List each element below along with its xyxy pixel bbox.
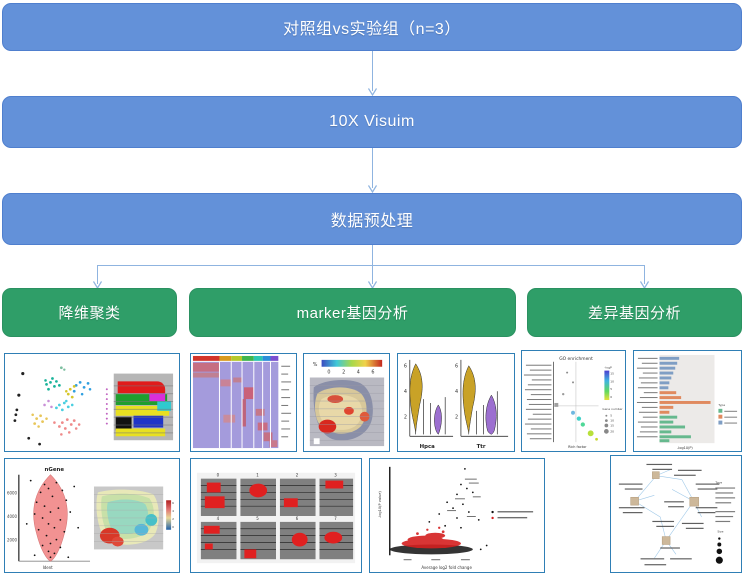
violin-xlabel-2: Ttr xyxy=(477,444,486,450)
svg-text:0: 0 xyxy=(327,370,330,376)
flowchart-canvas: 对照组vs实验组（n=3） 10X Visuim 数据预处理 降维聚类 mark… xyxy=(0,0,744,578)
flow-node-marker-label: marker基因分析 xyxy=(297,302,409,323)
connector-preprocessing-bus xyxy=(97,265,645,266)
figure-panel-marker-gene-heatmap[interactable] xyxy=(190,353,297,452)
figure-panel-spatial-expression-feature-plot[interactable]: % 02 46 xyxy=(303,353,390,452)
volcano-plot-graphic: Average log2 fold change -log10(P value) xyxy=(370,459,544,572)
flow-node-marker[interactable]: marker基因分析 xyxy=(189,288,516,337)
connector-platform-preprocessing xyxy=(372,148,373,188)
marker-gene-heatmap-graphic xyxy=(191,354,296,451)
connector-cohort-platform xyxy=(372,51,373,91)
svg-text:4: 4 xyxy=(455,389,458,395)
svg-text:6: 6 xyxy=(172,501,174,505)
violin-xlabel-1: Hpca xyxy=(420,444,436,450)
svg-text:5: 5 xyxy=(610,414,612,418)
figure-panel-ngene-violin-and-spatial-qc[interactable]: nGene 600040002000 Ident xyxy=(4,458,180,573)
cluster-spatial-grid-graphic: 0 1 2 3 4 5 6 7 xyxy=(191,459,361,572)
go-enrichment-bubble-plot-graphic: GO enrichment xyxy=(522,351,625,451)
flow-node-cohort-label: 对照组vs实验组（n=3） xyxy=(283,15,461,39)
arrowhead-platform-preprocessing xyxy=(368,185,377,192)
go-bubble-title: GO enrichment xyxy=(559,356,593,362)
go-bubble-legend-2: Gene number xyxy=(602,407,623,411)
ngene-title: nGene xyxy=(45,467,65,473)
connector-preprocessing-stem xyxy=(372,245,373,265)
flow-node-deg-label: 差异基因分析 xyxy=(588,302,681,323)
svg-text:4: 4 xyxy=(172,509,174,513)
figure-panel-volcano-plot[interactable]: Average log2 fold change -log10(P value) xyxy=(369,458,545,573)
svg-text:6000: 6000 xyxy=(7,490,18,495)
pathway-network-graph-graphic: Type Size xyxy=(611,456,741,572)
flow-node-preprocessing[interactable]: 数据预处理 xyxy=(2,193,742,245)
ngene-violin-and-spatial-qc-graphic: nGene 600040002000 Ident xyxy=(5,459,179,572)
svg-text:2: 2 xyxy=(404,415,407,421)
volcano-ylabel: -log10(P value) xyxy=(378,491,382,518)
spatial-expression-feature-plot-graphic: % 02 46 xyxy=(304,354,389,451)
figure-panel-go-enrichment-bubble-plot[interactable]: GO enrichment xyxy=(521,350,626,452)
figure-panel-violin-plot-markers[interactable]: 642 642 Hpca Ttr xyxy=(397,353,515,452)
arrowhead-cohort-platform xyxy=(368,88,377,95)
network-size-legend: Size xyxy=(717,530,723,534)
svg-text:4: 4 xyxy=(404,389,407,395)
svg-text:0: 0 xyxy=(172,525,174,529)
svg-text:%: % xyxy=(313,362,318,368)
svg-text:5: 5 xyxy=(610,387,612,391)
figure-panel-pathway-network-graph[interactable]: Type Size xyxy=(610,455,742,573)
go-bar-legend-title: Type xyxy=(717,403,725,407)
figure-panel-go-term-barplot[interactable]: Type -log10(P) xyxy=(633,350,742,452)
svg-text:2: 2 xyxy=(342,370,345,376)
flow-node-platform-label: 10X Visuim xyxy=(329,113,415,131)
go-bar-xlabel: -log10(P) xyxy=(677,446,693,450)
flow-node-preprocessing-label: 数据预处理 xyxy=(331,207,414,231)
arrowhead-preprocessing-marker xyxy=(368,281,377,288)
svg-text:20: 20 xyxy=(610,429,614,433)
svg-text:15: 15 xyxy=(610,372,614,376)
ngene-xlabel: Ident xyxy=(43,565,54,570)
svg-text:2: 2 xyxy=(455,415,458,421)
svg-text:10: 10 xyxy=(610,379,614,383)
go-term-barplot-graphic: Type -log10(P) xyxy=(634,351,741,451)
svg-text:2000: 2000 xyxy=(7,538,18,543)
arrowhead-preprocessing-clustering xyxy=(93,281,102,288)
svg-text:6: 6 xyxy=(371,370,374,376)
go-bubble-legend-1: -logP xyxy=(604,366,612,370)
flow-node-clustering[interactable]: 降维聚类 xyxy=(2,288,177,337)
tsne-cluster-and-spatial-map-graphic xyxy=(5,354,179,451)
flow-node-deg[interactable]: 差异基因分析 xyxy=(527,288,742,337)
svg-text:6: 6 xyxy=(404,364,407,370)
go-bubble-xlabel: Rich factor xyxy=(568,445,587,449)
svg-text:10: 10 xyxy=(610,419,614,423)
figure-panel-cluster-spatial-grid[interactable]: 0 1 2 3 4 5 6 7 xyxy=(190,458,362,573)
svg-text:0: 0 xyxy=(610,395,612,399)
figure-panel-tsne-cluster-and-spatial-map[interactable] xyxy=(4,353,180,452)
network-legend-title: Type xyxy=(714,481,722,485)
violin-plot-markers-graphic: 642 642 Hpca Ttr xyxy=(398,354,514,451)
svg-text:15: 15 xyxy=(610,423,614,427)
svg-text:2: 2 xyxy=(172,517,174,521)
flow-node-cohort[interactable]: 对照组vs实验组（n=3） xyxy=(2,3,742,51)
svg-text:4000: 4000 xyxy=(7,514,18,519)
arrowhead-preprocessing-deg xyxy=(640,281,649,288)
svg-text:6: 6 xyxy=(455,364,458,370)
flow-node-platform[interactable]: 10X Visuim xyxy=(2,96,742,148)
volcano-xlabel: Average log2 fold change xyxy=(421,565,472,570)
svg-text:4: 4 xyxy=(357,370,360,376)
flow-node-clustering-label: 降维聚类 xyxy=(58,302,120,323)
